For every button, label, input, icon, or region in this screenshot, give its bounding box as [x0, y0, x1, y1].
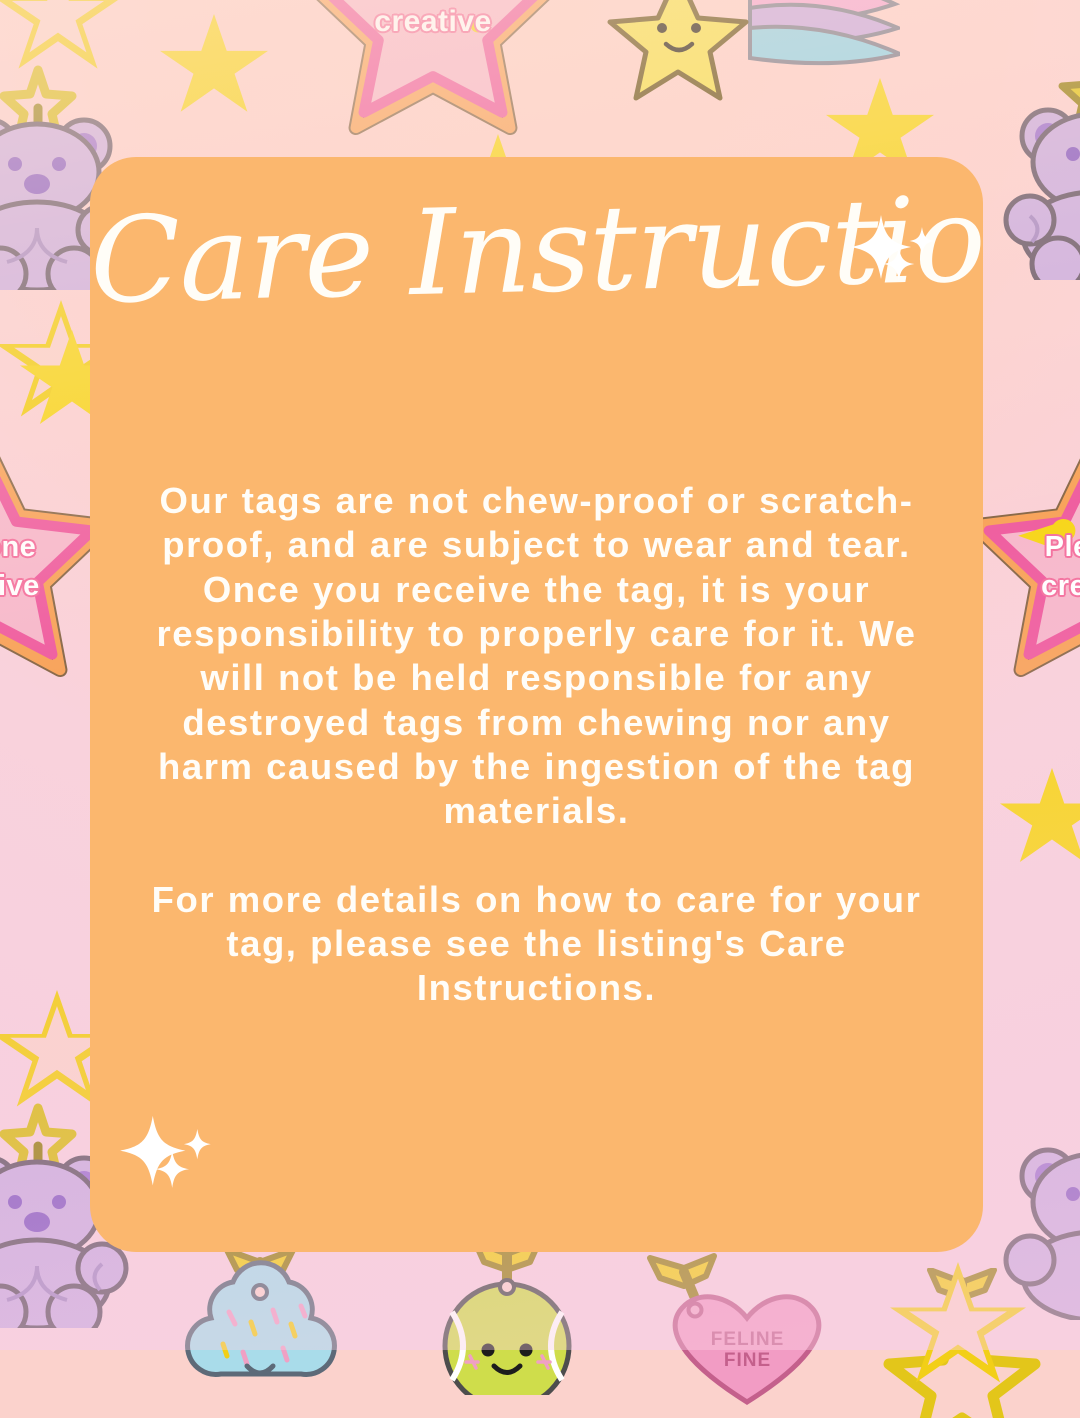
- shooting-star-icon: [600, 0, 900, 116]
- sparkle-cluster-top-right: [849, 209, 941, 293]
- paragraph-spacer: [142, 834, 931, 878]
- tennis-ball-icon: [420, 1240, 595, 1395]
- care-paragraph-1: Our tags are not chew-proof or scratch-p…: [142, 479, 931, 834]
- sparkle-cluster-bottom-left: [118, 1109, 218, 1201]
- tennis-ball-charm: [420, 1240, 595, 1395]
- heart-tag-label-line2: FINE: [640, 1350, 855, 1371]
- cloud-charm: [165, 1248, 355, 1393]
- gummy-bear-charm-top-right: [1000, 50, 1080, 280]
- care-paragraph-2: For more details on how to care for your…: [142, 878, 931, 1011]
- heart-tag-charm: FELINE FINE: [640, 1252, 855, 1412]
- brand-badge-top-text: creative: [300, 7, 566, 38]
- brand-badge-top: creative: [300, 0, 566, 146]
- shooting-star-charm: [600, 0, 900, 116]
- gummy-bear-icon: [1000, 50, 1080, 280]
- sparkle-cluster-icon: [118, 1109, 218, 1201]
- heart-tag-label-line1: FELINE: [640, 1329, 855, 1350]
- sprinkle-cloud-icon: [165, 1248, 355, 1393]
- care-instructions-body: Our tags are not chew-proof or scratch-p…: [142, 479, 931, 1011]
- star-outline-bottom-right: [890, 1262, 1026, 1390]
- sparkle-cluster-icon: [849, 209, 941, 293]
- care-instructions-card: Care Instructions Our tags are not chew-…: [90, 157, 983, 1252]
- star-outline-top-left: [0, 0, 122, 76]
